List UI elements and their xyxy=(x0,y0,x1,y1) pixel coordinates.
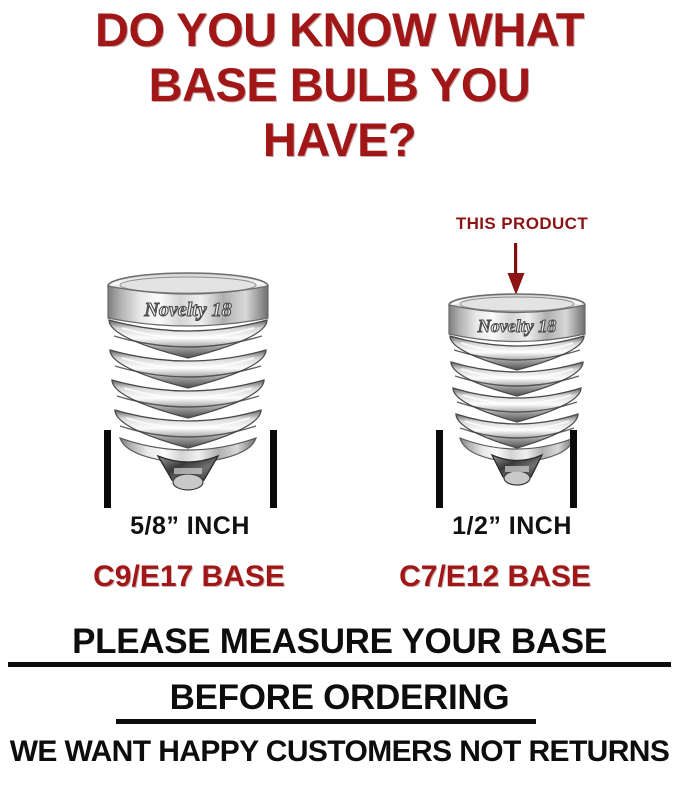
headline-line-2: BASE BULB YOU xyxy=(0,57,679,112)
measurement-label-c7: 1/2” INCH xyxy=(424,512,600,541)
footer-line-3: WE WANT HAPPY CUSTOMERS NOT RETURNS xyxy=(0,735,679,769)
bulb-embossed-text: Novelty 18 xyxy=(477,316,556,336)
bulb-image-c9-e17: Novelty 18 xyxy=(100,272,276,492)
headline-line-3: HAVE? xyxy=(0,112,679,167)
base-type-label-c9: C9/E17 BASE xyxy=(44,560,334,594)
footer-line-1: PLEASE MEASURE YOUR BASE xyxy=(0,622,679,662)
footer-rule-2 xyxy=(116,719,536,724)
footer-rule-1 xyxy=(8,662,671,667)
page-title: DO YOU KNOW WHAT BASE BULB YOU HAVE? xyxy=(0,2,679,167)
this-product-annotation: THIS PRODUCT xyxy=(424,214,620,234)
measure-tick-right-c7 xyxy=(570,430,577,508)
bulb-embossed-text: Novelty 18 xyxy=(143,299,231,321)
arrow-down-icon xyxy=(503,243,529,295)
base-type-label-c7: C7/E12 BASE xyxy=(350,560,640,594)
measurement-label-c9: 5/8” INCH xyxy=(96,512,284,541)
measure-tick-right-c9 xyxy=(270,430,277,508)
headline-line-1: DO YOU KNOW WHAT xyxy=(0,2,679,57)
footer-line-2: BEFORE ORDERING xyxy=(0,678,679,718)
measure-tick-left-c9 xyxy=(104,430,111,508)
measure-tick-left-c7 xyxy=(436,430,443,508)
